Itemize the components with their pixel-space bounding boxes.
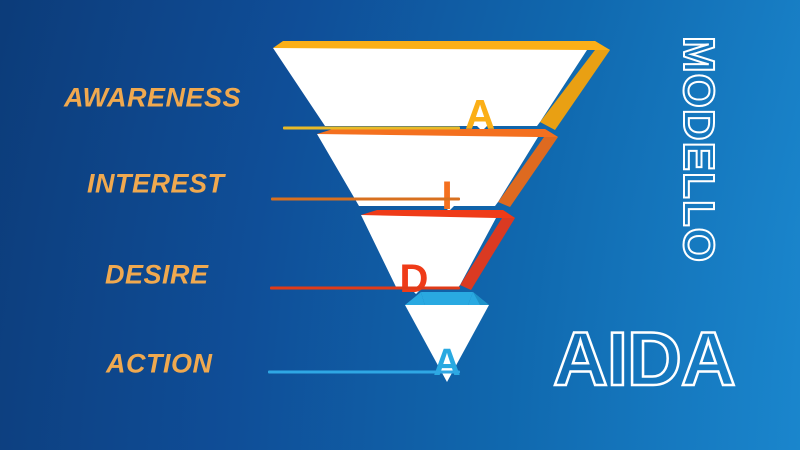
- stage-label-desire[interactable]: DESIRE: [105, 260, 209, 291]
- awareness-body: [273, 48, 587, 131]
- aida-funnel-infographic: A I D A AWARENESS INTEREST DESIRE ACTION…: [0, 0, 800, 450]
- stage-initial-interest: I: [441, 174, 452, 218]
- aida-wordmark: AIDA: [553, 322, 735, 398]
- funnel-stage-awareness[interactable]: [273, 41, 610, 131]
- stage-label-awareness[interactable]: AWARENESS: [64, 83, 241, 114]
- connector-awareness: [283, 127, 460, 130]
- connector-interest: [271, 198, 460, 201]
- stage-label-interest[interactable]: INTEREST: [87, 169, 225, 200]
- modello-wordmark: MODELLO: [676, 36, 720, 263]
- funnel-stage-desire[interactable]: [361, 210, 515, 294]
- connector-action: [268, 371, 460, 374]
- stage-initial-action: A: [433, 342, 460, 384]
- stage-label-action[interactable]: ACTION: [106, 349, 213, 380]
- stage-initial-desire: D: [400, 257, 429, 301]
- connector-desire: [270, 287, 460, 290]
- stage-initial-awareness: A: [465, 91, 495, 138]
